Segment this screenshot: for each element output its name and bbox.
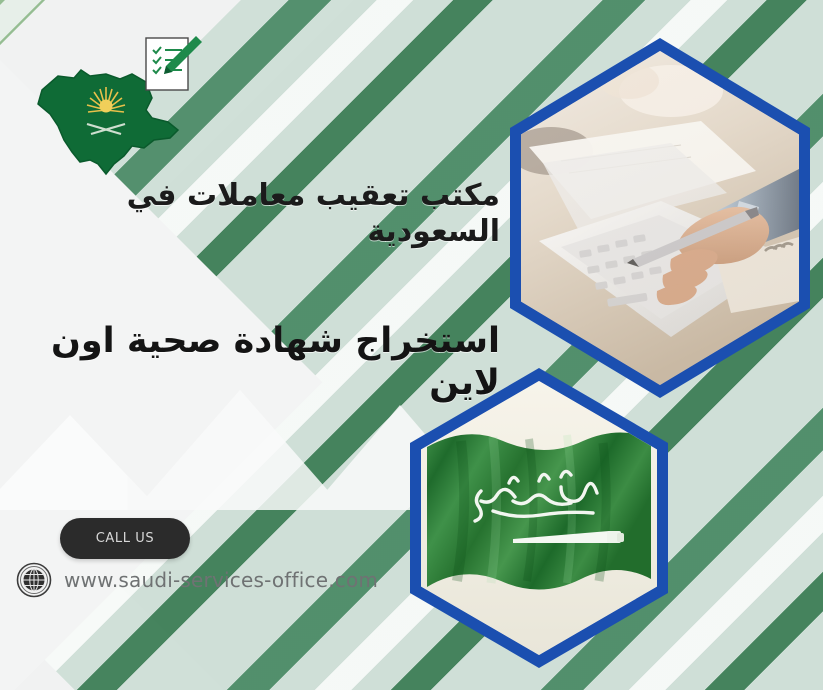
hexagon-photo-laptop xyxy=(510,38,810,398)
call-us-label: CALL US xyxy=(96,531,155,546)
website-row[interactable]: www.saudi-services-office.com xyxy=(14,560,378,600)
hexagon-photo-saudi-flag xyxy=(410,368,668,668)
promo-poster: مكتب تعقيب معاملات في السعودية استخراج ش… xyxy=(0,0,823,690)
website-url[interactable]: www.saudi-services-office.com xyxy=(64,568,378,592)
headline-primary: مكتب تعقيب معاملات في السعودية xyxy=(10,178,500,250)
call-us-button[interactable]: CALL US xyxy=(60,518,190,559)
globe-icon xyxy=(14,560,54,600)
brand-logo xyxy=(28,30,218,175)
checklist-with-pen-icon xyxy=(136,30,208,102)
